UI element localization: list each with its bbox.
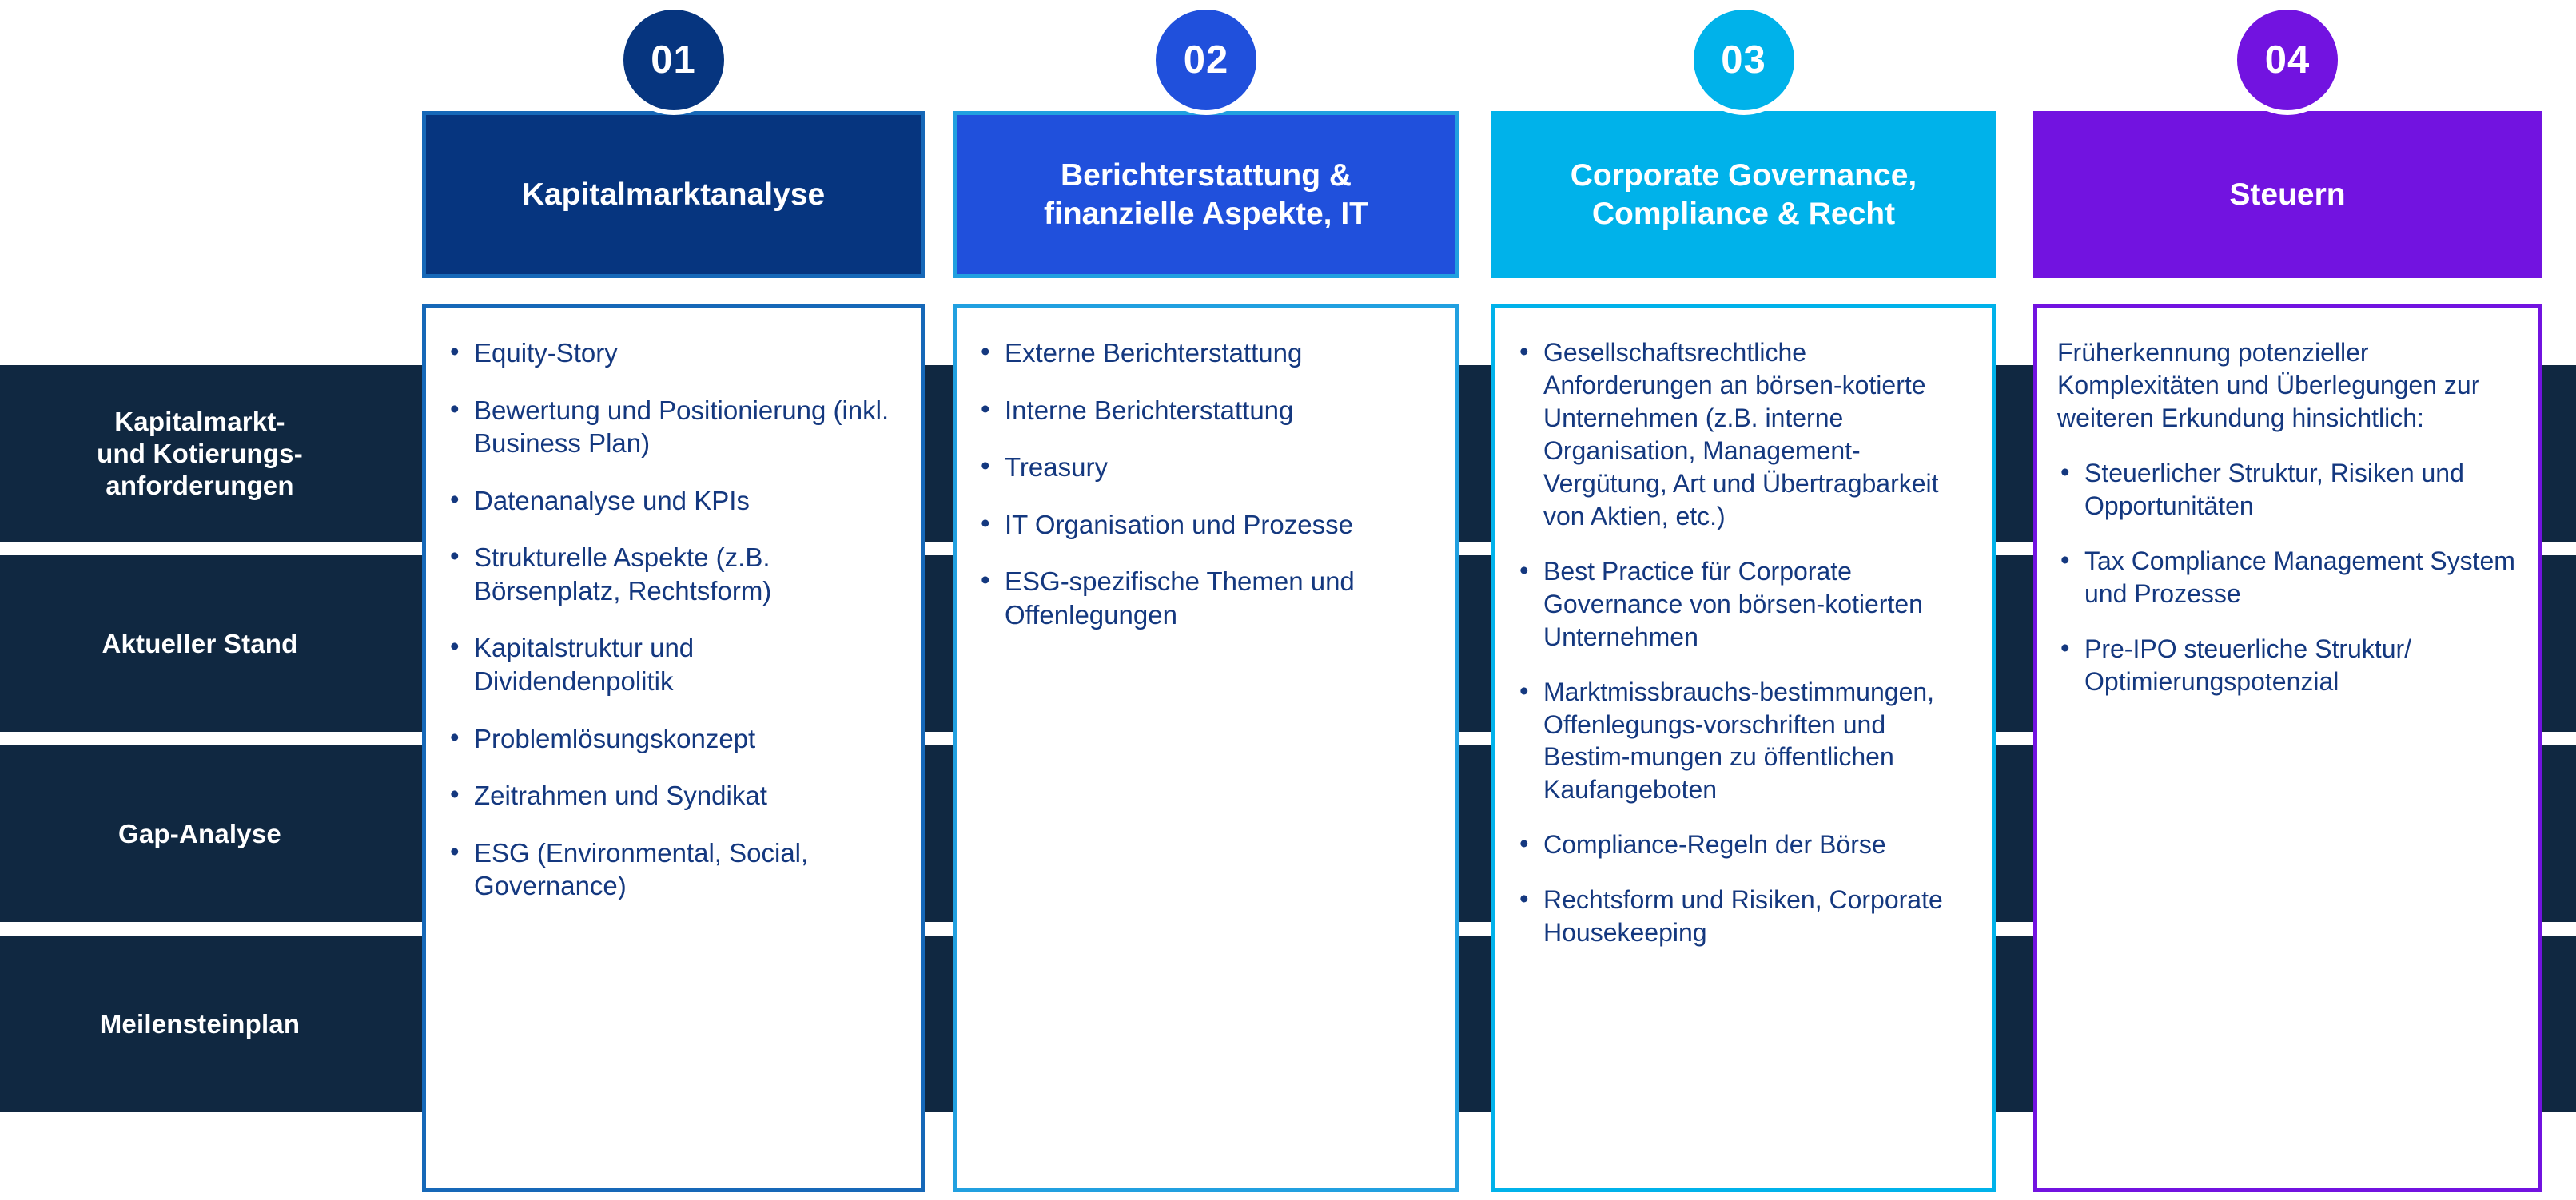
column-title: Berichterstattung &finanzielle Aspekte, … [1029, 157, 1383, 232]
list-item: Compliance-Regeln der Börse [1516, 828, 1971, 861]
list-item: Zeitrahmen und Syndikat [447, 779, 900, 813]
list-item: Datenanalyse und KPIs [447, 484, 900, 518]
column-title: Corporate Governance,Compliance & Recht [1556, 157, 1931, 232]
column-body-04: Früherkennung potenzieller Komplexitäten… [2033, 304, 2542, 1192]
list-item: Rechtsform und Risiken, Corporate Housek… [1516, 884, 1971, 949]
list-item: Steuerlicher Struktur, Risiken und Oppor… [2057, 457, 2518, 523]
column-header-03: Corporate Governance,Compliance & Recht [1491, 111, 1996, 278]
list-item: ESG-spezifische Themen und Offenlegungen [977, 565, 1435, 631]
list-item: Bewertung und Positionierung (inkl. Busi… [447, 394, 900, 460]
column-title: Steuern [2215, 176, 2359, 214]
step-number-badge-03: 03 [1689, 5, 1799, 115]
workstream-column-04[interactable]: Steuern04Früherkennung potenzieller Komp… [2033, 0, 2542, 1200]
step-number-badge-01: 01 [619, 5, 729, 115]
list-item: Pre-IPO steuerliche Struktur/ Optimierun… [2057, 633, 2518, 698]
step-number-badge-02: 02 [1151, 5, 1261, 115]
workstream-column-03[interactable]: Corporate Governance,Compliance & Recht0… [1491, 0, 1996, 1200]
column-body-01: Equity-StoryBewertung und Positionierung… [422, 304, 925, 1192]
phase-band-label: Meilensteinplan [0, 1008, 400, 1040]
phase-band-label: Gap-Analyse [0, 818, 400, 850]
list-item: Treasury [977, 451, 1435, 484]
column-header-04: Steuern [2033, 111, 2542, 278]
bullet-list: Externe BerichterstattungInterne Bericht… [957, 308, 1455, 671]
list-item: Marktmissbrauchs-bestimmungen, Offenlegu… [1516, 676, 1971, 807]
column-body-02: Externe BerichterstattungInterne Bericht… [953, 304, 1459, 1192]
column-header-01: Kapitalmarktanalyse [422, 111, 925, 278]
list-item: Externe Berichterstattung [977, 336, 1435, 370]
bullet-list: Gesellschaftsrechtliche Anforderungen an… [1495, 308, 1992, 987]
list-item: Strukturelle Aspekte (z.B. Börsenplatz, … [447, 541, 900, 607]
list-intro: Früherkennung potenzieller Komplexitäten… [2057, 336, 2518, 435]
column-header-02: Berichterstattung &finanzielle Aspekte, … [953, 111, 1459, 278]
list-item: Kapitalstruktur und Dividendenpolitik [447, 631, 900, 697]
list-item: Interne Berichterstattung [977, 394, 1435, 427]
list-item: Best Practice für Corporate Governance v… [1516, 555, 1971, 654]
bullet-list: Früherkennung potenzieller Komplexitäten… [2037, 308, 2538, 737]
column-title: Kapitalmarktanalyse [508, 176, 839, 214]
workstream-column-02[interactable]: Berichterstattung &finanzielle Aspekte, … [953, 0, 1459, 1200]
phase-band-label: Aktueller Stand [0, 628, 400, 660]
list-item: Problemlösungskonzept [447, 722, 900, 756]
list-item: Tax Compliance Management System und Pro… [2057, 545, 2518, 610]
list-item: ESG (Environmental, Social, Governance) [447, 836, 900, 903]
workstream-column-01[interactable]: Kapitalmarktanalyse01Equity-StoryBewertu… [422, 0, 925, 1200]
phase-band-label: Kapitalmarkt-und Kotierungs-anforderunge… [0, 406, 400, 502]
list-item: Gesellschaftsrechtliche Anforderungen an… [1516, 336, 1971, 533]
list-item: IT Organisation und Prozesse [977, 508, 1435, 542]
infographic-stage: Kapitalmarkt-und Kotierungs-anforderunge… [0, 0, 2576, 1200]
column-body-03: Gesellschaftsrechtliche Anforderungen an… [1491, 304, 1996, 1192]
bullet-list: Equity-StoryBewertung und Positionierung… [426, 308, 921, 943]
list-item: Equity-Story [447, 336, 900, 370]
step-number-badge-04: 04 [2232, 5, 2343, 115]
